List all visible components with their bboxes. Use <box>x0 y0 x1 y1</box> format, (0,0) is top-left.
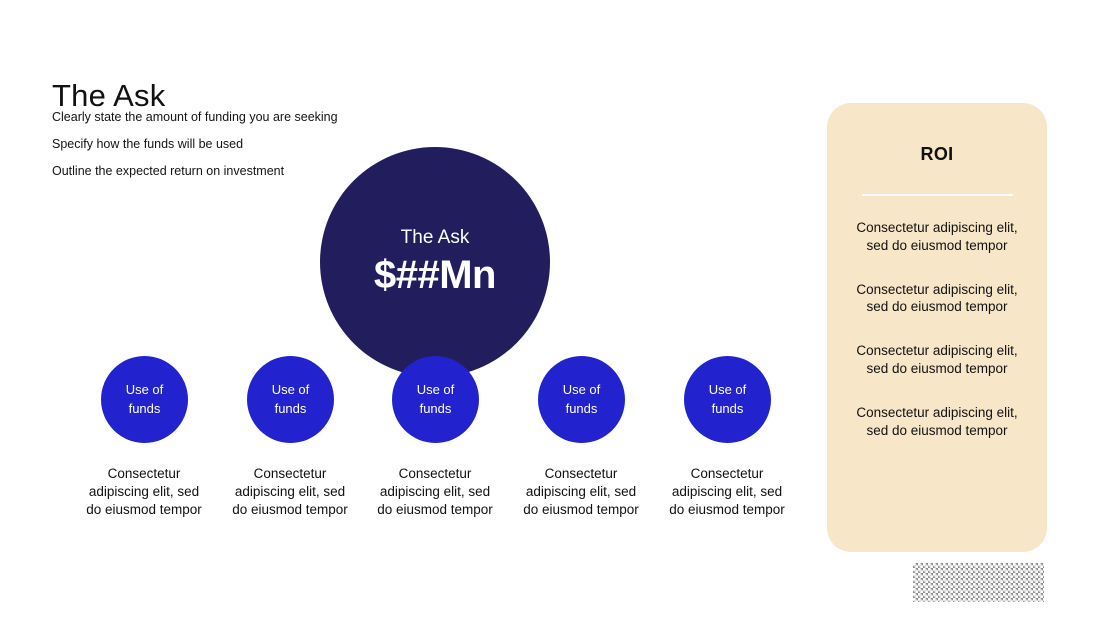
hero-ask-amount: $##Mn <box>374 254 496 296</box>
roi-panel-title: ROI <box>827 144 1047 165</box>
roi-item: Consectetur adipiscing elit, sed do eius… <box>845 342 1029 378</box>
use-of-funds-caption-4: Consectetur adipiscing elit, sed do eius… <box>517 465 645 518</box>
use-of-funds-circle-label: Use offunds <box>126 381 164 419</box>
checkered-dot-pattern-icon <box>913 563 1044 602</box>
use-of-funds-caption-1: Consectetur adipiscing elit, sed do eius… <box>80 465 208 518</box>
use-of-funds-circle-label: Use offunds <box>417 381 455 419</box>
hero-ask-label: The Ask <box>401 228 470 249</box>
use-of-funds-circle-label: Use offunds <box>563 381 601 419</box>
use-of-funds-circle-label: Use offunds <box>272 381 310 419</box>
use-of-funds-circle-label: Use offunds <box>709 381 747 419</box>
use-of-funds-circle-5[interactable]: Use offunds <box>684 356 771 443</box>
roi-divider <box>862 194 1013 196</box>
bullet-item: Specify how the funds will be used <box>52 138 472 151</box>
use-of-funds-caption-2: Consectetur adipiscing elit, sed do eius… <box>226 465 354 518</box>
roi-item-list: Consectetur adipiscing elit, sed do eius… <box>845 219 1029 440</box>
page-title: The Ask <box>52 79 165 113</box>
roi-item: Consectetur adipiscing elit, sed do eius… <box>845 281 1029 317</box>
use-of-funds-caption-5: Consectetur adipiscing elit, sed do eius… <box>663 465 791 518</box>
use-of-funds-circle-4[interactable]: Use offunds <box>538 356 625 443</box>
bullet-item: Clearly state the amount of funding you … <box>52 111 472 124</box>
use-of-funds-circle-3[interactable]: Use offunds <box>392 356 479 443</box>
hero-ask-circle: The Ask $##Mn <box>320 147 550 377</box>
use-of-funds-caption-3: Consectetur adipiscing elit, sed do eius… <box>371 465 499 518</box>
slide-canvas: The Ask Clearly state the amount of fund… <box>0 0 1100 618</box>
use-of-funds-circle-1[interactable]: Use offunds <box>101 356 188 443</box>
roi-item: Consectetur adipiscing elit, sed do eius… <box>845 404 1029 440</box>
use-of-funds-circle-2[interactable]: Use offunds <box>247 356 334 443</box>
roi-panel: ROI Consectetur adipiscing elit, sed do … <box>827 103 1047 552</box>
roi-item: Consectetur adipiscing elit, sed do eius… <box>845 219 1029 255</box>
